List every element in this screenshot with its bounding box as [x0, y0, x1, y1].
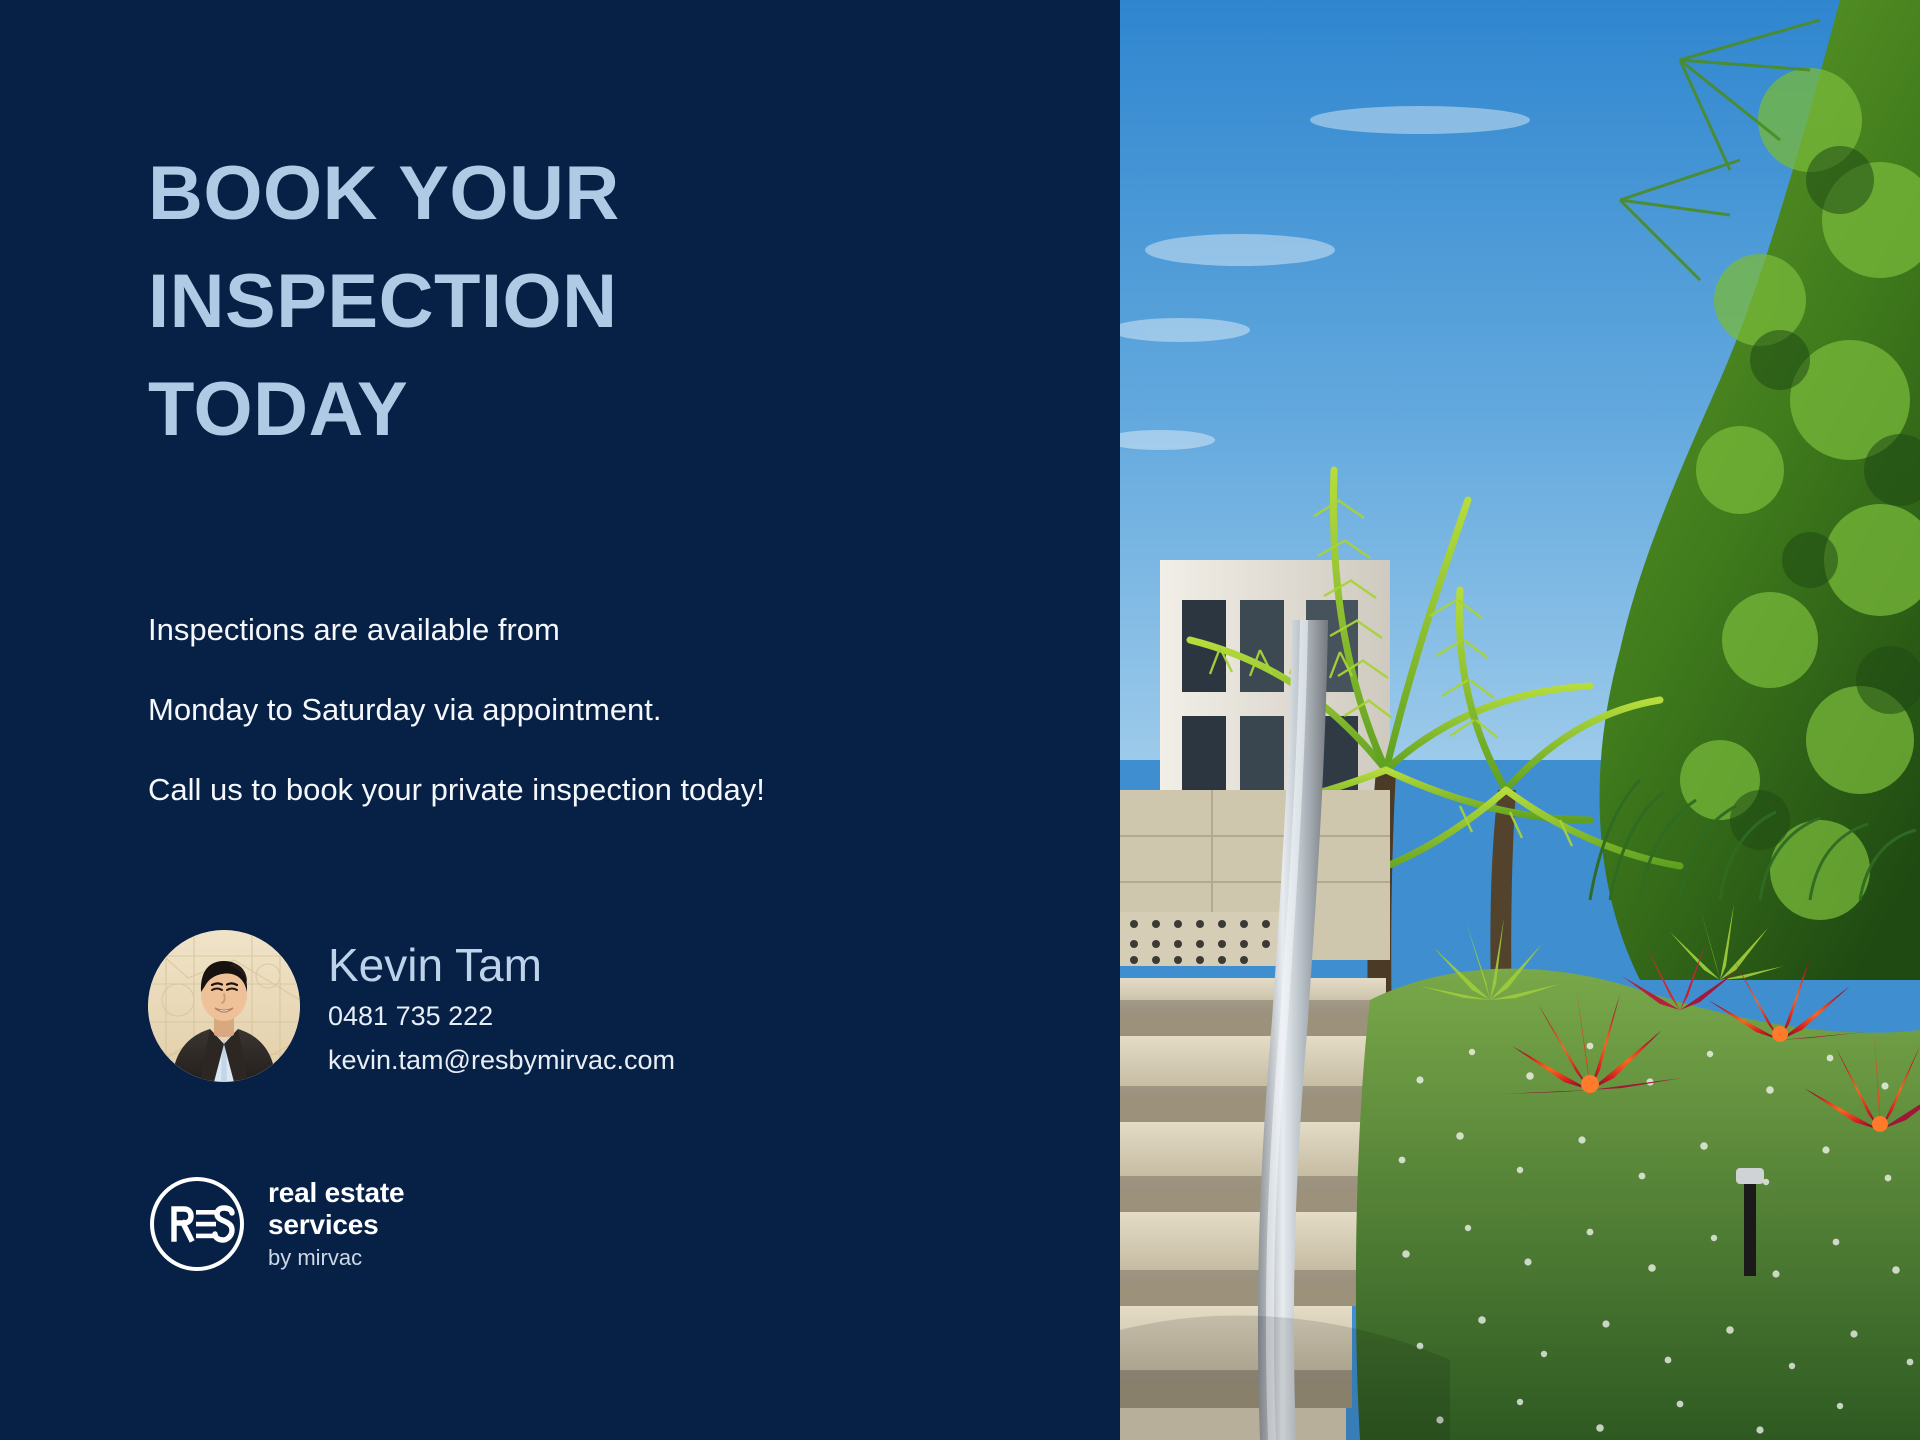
page-title: BOOK YOUR INSPECTION TODAY — [148, 140, 908, 464]
agent-details: Kevin Tam 0481 735 222 kevin.tam@resbymi… — [328, 930, 675, 1082]
avatar — [148, 930, 300, 1082]
garden-courtyard-photo — [1120, 0, 1920, 1440]
agent-phone[interactable]: 0481 735 222 — [328, 994, 675, 1038]
agent-name: Kevin Tam — [328, 936, 675, 994]
agent-contact-card: Kevin Tam 0481 735 222 kevin.tam@resbymi… — [148, 930, 675, 1082]
logo-line-3: by mirvac — [268, 1243, 404, 1273]
body-line-3: Call us to book your private inspection … — [148, 750, 1048, 830]
logo-line-1: real estate — [268, 1177, 404, 1209]
body-copy: Inspections are available from Monday to… — [148, 590, 1048, 830]
agent-email[interactable]: kevin.tam@resbymirvac.com — [328, 1038, 675, 1082]
body-line-1: Inspections are available from — [148, 590, 1048, 670]
headline-line-2: INSPECTION — [148, 248, 908, 356]
body-line-2: Monday to Saturday via appointment. — [148, 670, 1048, 750]
content-panel: BOOK YOUR INSPECTION TODAY Inspections a… — [0, 0, 1120, 1440]
inspection-flyer: BOOK YOUR INSPECTION TODAY Inspections a… — [0, 0, 1920, 1440]
res-monogram-icon — [148, 1175, 246, 1273]
logo-line-2: services — [268, 1209, 404, 1241]
logo-wordmark: real estate services by mirvac — [268, 1175, 404, 1273]
headline-line-3: TODAY — [148, 356, 908, 464]
headline-line-1: BOOK YOUR — [148, 140, 908, 248]
res-by-mirvac-logo: real estate services by mirvac — [148, 1175, 404, 1273]
